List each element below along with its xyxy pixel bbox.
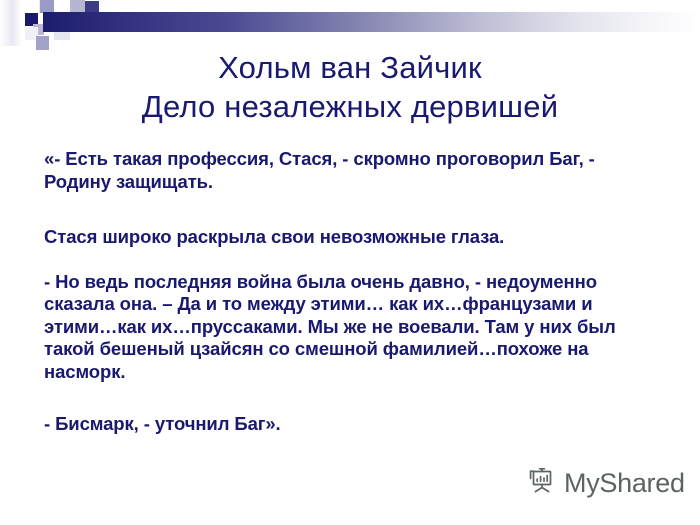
title-line-author: Хольм ван Зайчик: [0, 48, 700, 87]
myshared-label: MyShared: [564, 470, 685, 497]
slide-body: «- Есть такая профессия, Стася, - скромн…: [44, 148, 660, 436]
body-paragraph-4: - Бисмарк, - уточнил Баг».: [44, 413, 660, 436]
slide-canvas: Хольм ван Зайчик Дело незалежных дервише…: [0, 0, 700, 525]
header-gradient-bar: [43, 12, 700, 32]
paragraph-spacer: [44, 249, 660, 271]
slide-title: Хольм ван Зайчик Дело незалежных дервише…: [0, 48, 700, 126]
ornament-fade-column: [0, 0, 22, 46]
body-paragraph-3: - Но ведь последняя война была очень дав…: [44, 271, 660, 384]
presentation-chart-icon: [527, 466, 557, 501]
paragraph-spacer: [44, 193, 660, 226]
body-paragraph-1: «- Есть такая профессия, Стася, - скромн…: [44, 148, 660, 193]
myshared-watermark: MyShared: [527, 466, 685, 501]
title-line-book: Дело незалежных дервишей: [0, 87, 700, 126]
paragraph-spacer: [44, 383, 660, 413]
body-paragraph-2: Стася широко раскрыла свои невозможные г…: [44, 226, 660, 249]
